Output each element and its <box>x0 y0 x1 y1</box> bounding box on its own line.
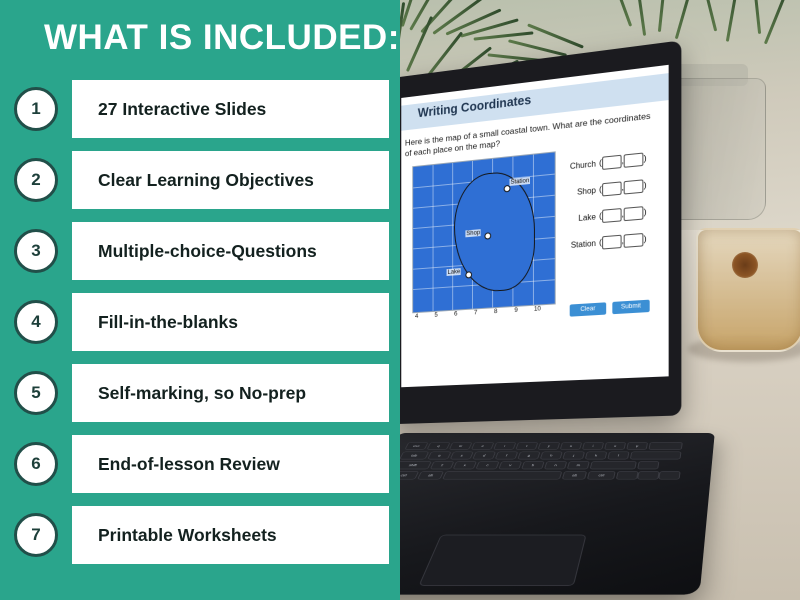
key-w[interactable]: w <box>449 442 473 450</box>
axis-tick-x-9: 9 <box>514 307 517 314</box>
key-shift-right[interactable] <box>590 461 637 469</box>
paren-close: ) <box>644 233 647 244</box>
key-p[interactable]: p <box>626 442 648 450</box>
key-ctrl-right[interactable]: ctrl <box>587 471 616 479</box>
key-y[interactable]: y <box>537 442 560 450</box>
feature-label: Multiple-choice-Questions <box>72 222 389 280</box>
answer-input-station-y[interactable] <box>624 233 644 248</box>
key-a[interactable]: a <box>427 452 451 460</box>
key-alt-left[interactable]: alt <box>417 471 444 479</box>
answer-label-station: Station <box>562 238 596 250</box>
feature-number-badge: 3 <box>14 229 58 273</box>
key-m[interactable]: m <box>567 461 590 469</box>
feature-number-badge: 5 <box>14 371 58 415</box>
spice-garnish <box>732 252 758 278</box>
promo-graphic: WHAT IS INCLUDED: 1 27 Interactive Slide… <box>0 0 800 600</box>
key-b[interactable]: b <box>521 461 545 469</box>
key-tab[interactable]: tab <box>400 452 429 460</box>
list-item: 1 27 Interactive Slides <box>14 80 389 138</box>
feature-number-badge: 4 <box>14 300 58 344</box>
map-label-station: Station <box>510 177 531 186</box>
key-backspace[interactable] <box>648 442 682 450</box>
key-space[interactable] <box>442 471 562 479</box>
list-item: 4 Fill-in-the-blanks <box>14 293 389 351</box>
feature-label: 27 Interactive Slides <box>72 80 389 138</box>
answer-label-shop: Shop <box>562 185 596 197</box>
key-q[interactable]: q <box>427 442 451 450</box>
answer-input-church-y[interactable] <box>624 152 644 167</box>
key-j[interactable]: j <box>562 452 585 460</box>
promo-left-panel: WHAT IS INCLUDED: 1 27 Interactive Slide… <box>0 0 400 600</box>
answer-input-lake-y[interactable] <box>624 206 644 221</box>
key-k[interactable]: k <box>585 452 608 460</box>
list-item: 5 Self-marking, so No-prep <box>14 364 389 422</box>
map-label-lake: Lake <box>447 268 462 276</box>
key-z[interactable]: z <box>430 461 455 469</box>
key-l[interactable]: l <box>607 452 629 460</box>
list-item: 6 End-of-lesson Review <box>14 435 389 493</box>
key-enter[interactable] <box>630 452 682 460</box>
key-v[interactable]: v <box>498 461 522 469</box>
key-n[interactable]: n <box>544 461 567 469</box>
trackpad[interactable] <box>418 535 586 586</box>
key-g[interactable]: g <box>517 452 540 460</box>
laptop-lid: Writing Coordinates Here is the map of a… <box>400 40 681 424</box>
list-item: 2 Clear Learning Objectives <box>14 151 389 209</box>
map-label-shop: Shop <box>465 229 481 237</box>
answer-row-church: Church(,) <box>562 152 647 174</box>
key-c[interactable]: c <box>475 461 499 469</box>
lesson-slide: Writing Coordinates Here is the map of a… <box>401 65 668 387</box>
key-x[interactable]: x <box>453 461 477 469</box>
answer-row-shop: Shop(,) <box>562 179 647 200</box>
answer-label-lake: Lake <box>562 212 596 224</box>
key-o[interactable]: o <box>604 442 626 450</box>
answer-input-lake-x[interactable] <box>602 208 622 223</box>
key-arrow-up[interactable] <box>637 461 659 469</box>
key-u[interactable]: u <box>560 442 583 450</box>
answer-input-church-x[interactable] <box>602 155 622 170</box>
key-d[interactable]: d <box>472 452 496 460</box>
paren-close: ) <box>644 153 647 164</box>
key-arrow-right[interactable] <box>658 471 680 479</box>
axis-tick-x-6: 6 <box>454 310 457 317</box>
keyboard[interactable]: esc q w e r t y u i o p tab a s d f <box>400 442 690 526</box>
feature-label: Self-marking, so No-prep <box>72 364 389 422</box>
answer-row-lake: Lake(,) <box>562 206 647 226</box>
feature-label: Fill-in-the-blanks <box>72 293 389 351</box>
coordinate-map: Station Shop Lake <box>412 151 555 313</box>
key-r[interactable]: r <box>493 442 516 450</box>
feature-label: Clear Learning Objectives <box>72 151 389 209</box>
feature-number-badge: 1 <box>14 87 58 131</box>
laptop-base: esc q w e r t y u i o p tab a s d f <box>400 433 715 595</box>
feature-number-badge: 2 <box>14 158 58 202</box>
answer-input-shop-x[interactable] <box>602 181 622 196</box>
list-item: 3 Multiple-choice-Questions <box>14 222 389 280</box>
answer-label-church: Church <box>562 159 596 172</box>
laptop: esc q w e r t y u i o p tab a s d f <box>400 60 712 580</box>
key-shift-left[interactable]: shift <box>400 461 432 469</box>
key-arrow-left[interactable] <box>616 471 639 479</box>
submit-button[interactable]: Submit <box>612 300 649 315</box>
feature-label: Printable Worksheets <box>72 506 389 564</box>
feature-number-badge: 6 <box>14 442 58 486</box>
key-i[interactable]: i <box>582 442 604 450</box>
list-item: 7 Printable Worksheets <box>14 506 389 564</box>
axis-tick-x-10: 10 <box>534 305 541 312</box>
answer-input-shop-y[interactable] <box>624 179 644 194</box>
feature-label: End-of-lesson Review <box>72 435 389 493</box>
key-h[interactable]: h <box>540 452 563 460</box>
axis-tick-x-8: 8 <box>494 308 497 315</box>
clear-button[interactable]: Clear <box>570 302 606 316</box>
paren-close: ) <box>644 207 647 218</box>
laptop-screen: Writing Coordinates Here is the map of a… <box>401 65 668 387</box>
answer-row-station: Station(,) <box>562 233 647 253</box>
key-arrow-down[interactable] <box>637 471 660 479</box>
key-esc[interactable]: esc <box>404 442 428 450</box>
key-e[interactable]: e <box>471 442 495 450</box>
answer-input-station-x[interactable] <box>602 235 622 250</box>
key-s[interactable]: s <box>450 452 474 460</box>
axis-tick-x-7: 7 <box>474 309 477 316</box>
key-alt-right[interactable]: alt <box>562 471 587 479</box>
paren-close: ) <box>644 180 647 191</box>
key-f[interactable]: f <box>495 452 519 460</box>
laptop-photo: esc q w e r t y u i o p tab a s d f <box>400 0 800 600</box>
axis-tick-x-5: 5 <box>434 312 437 319</box>
feature-list: 1 27 Interactive Slides 2 Clear Learning… <box>14 80 389 577</box>
key-t[interactable]: t <box>515 442 538 450</box>
feature-number-badge: 7 <box>14 513 58 557</box>
axis-tick-x-4: 4 <box>415 313 418 320</box>
page-title: WHAT IS INCLUDED: <box>44 16 384 60</box>
